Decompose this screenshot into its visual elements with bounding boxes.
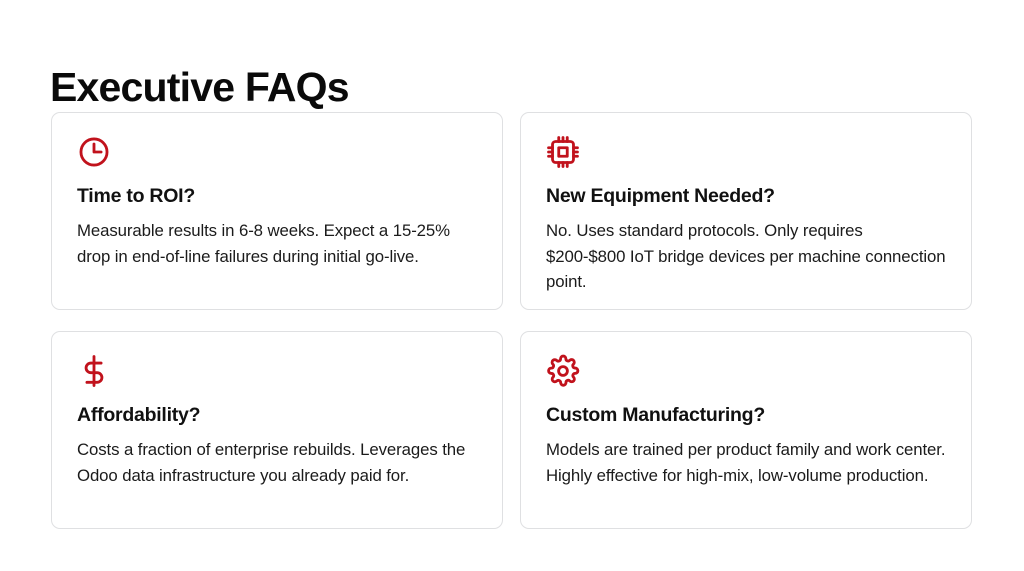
- faq-body: Measurable results in 6-8 weeks. Expect …: [77, 218, 477, 269]
- faq-heading: New Equipment Needed?: [546, 185, 946, 208]
- dollar-sign-icon: [77, 354, 111, 388]
- faq-card-affordability[interactable]: Affordability? Costs a fraction of enter…: [51, 331, 503, 529]
- clock-icon: [77, 135, 111, 169]
- gear-icon: [546, 354, 580, 388]
- cpu-chip-icon: [546, 135, 580, 169]
- faq-card-time-to-roi[interactable]: Time to ROI? Measurable results in 6-8 w…: [51, 112, 503, 310]
- faq-body: No. Uses standard protocols. Only requir…: [546, 218, 946, 295]
- faq-card-custom-manufacturing[interactable]: Custom Manufacturing? Models are trained…: [520, 331, 972, 529]
- faq-body: Models are trained per product family an…: [546, 437, 946, 488]
- faq-card-grid: Time to ROI? Measurable results in 6-8 w…: [51, 112, 971, 529]
- faq-heading: Custom Manufacturing?: [546, 404, 946, 427]
- page-title: Executive FAQs: [50, 65, 349, 110]
- faq-card-new-equipment[interactable]: New Equipment Needed? No. Uses standard …: [520, 112, 972, 310]
- faq-heading: Time to ROI?: [77, 185, 477, 208]
- faq-body: Costs a fraction of enterprise rebuilds.…: [77, 437, 477, 488]
- faq-heading: Affordability?: [77, 404, 477, 427]
- faq-page: Executive FAQs Time to ROI? Measurable r…: [0, 0, 1024, 571]
